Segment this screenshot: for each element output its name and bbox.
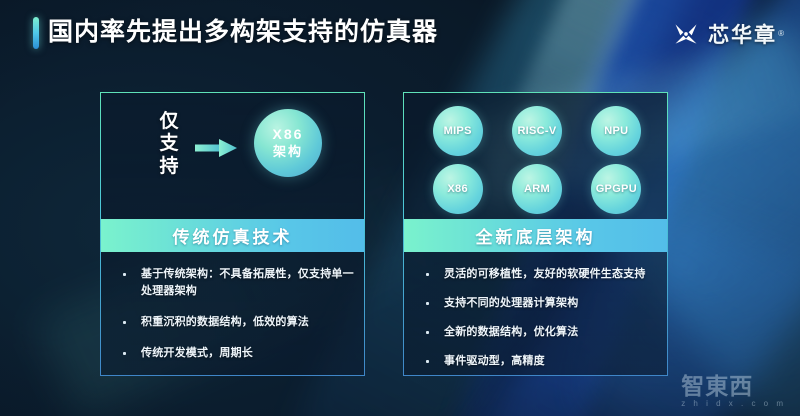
architecture-chip-label: X86: [447, 183, 467, 195]
legacy-simulation-panel: 仅支持 X86 架构 传统仿真技术 基于传统架构：不具备拓: [100, 92, 365, 376]
architecture-chip: MIPS: [433, 106, 483, 156]
brand-name: 芯华章: [708, 24, 777, 47]
list-item: 支持不同的处理器计算架构: [418, 295, 657, 312]
list-item: 事件驱动型，高精度: [418, 353, 657, 370]
legacy-bullet-list: 基于传统架构：不具备拓展性，仅支持单一处理器架构 积重沉积的数据结构，低效的算法…: [115, 266, 354, 362]
architecture-chip-grid: MIPS RISC-V NPU X86 ARM GPGPU: [418, 105, 656, 215]
watermark-url: z h i d x . c o m: [681, 399, 786, 408]
list-item: 积重沉积的数据结构，低效的算法: [115, 314, 354, 331]
architecture-chip-label: MIPS: [444, 125, 472, 137]
list-item: 灵活的可移植性，友好的软硬件生态支持: [418, 266, 657, 283]
architecture-chip: RISC-V: [512, 106, 562, 156]
new-architecture-bullet-list: 灵活的可移植性，友好的软硬件生态支持 支持不同的处理器计算架构 全新的数据结构，…: [418, 266, 657, 370]
x86-architecture-circle: X86 架构: [254, 109, 322, 177]
architecture-chip-label: GPGPU: [596, 183, 637, 195]
architecture-chip: X86: [433, 164, 483, 214]
architecture-chip-label: RISC-V: [517, 125, 556, 137]
x-mark-icon: [672, 20, 700, 48]
architecture-chip-label: ARM: [524, 183, 550, 195]
title-accent-bar: [33, 17, 39, 49]
new-architecture-panel-band-title: 全新底层架构: [476, 223, 596, 248]
new-architecture-panel-body: 灵活的可移植性，友好的软硬件生态支持 支持不同的处理器计算架构 全新的数据结构，…: [404, 252, 667, 370]
legacy-panel-body: 基于传统架构：不具备拓展性，仅支持单一处理器架构 积重沉积的数据结构，低效的算法…: [101, 252, 364, 362]
new-architecture-panel-band: 全新底层架构: [404, 219, 667, 252]
list-item: 全新的数据结构，优化算法: [418, 324, 657, 341]
list-item: 传统开发模式，周期长: [115, 345, 354, 362]
architecture-chip-label: NPU: [604, 125, 628, 137]
brand-registered-mark: ®: [778, 29, 784, 38]
arrow-right-icon: [195, 137, 239, 159]
only-support-label: 仅支持: [156, 111, 182, 178]
slide-root: 国内率先提出多构架支持的仿真器 芯华章® 仅支持: [0, 0, 800, 416]
watermark: 智東西 z h i d x . c o m: [681, 375, 786, 408]
page-title: 国内率先提出多构架支持的仿真器: [48, 12, 438, 48]
watermark-glyph: 智東西: [681, 375, 786, 398]
legacy-panel-visual: 仅支持 X86 架构: [101, 93, 364, 219]
new-architecture-panel: MIPS RISC-V NPU X86 ARM GPGPU 全新底层架构 灵活的…: [403, 92, 668, 376]
legacy-panel-band-title: 传统仿真技术: [173, 223, 293, 248]
architecture-chip: GPGPU: [591, 164, 641, 214]
architecture-chip: NPU: [591, 106, 641, 156]
legacy-panel-band: 传统仿真技术: [101, 219, 364, 252]
new-architecture-panel-visual: MIPS RISC-V NPU X86 ARM GPGPU: [404, 93, 667, 219]
x86-circle-line2: 架构: [273, 144, 303, 160]
x86-circle-line1: X86: [273, 126, 304, 144]
architecture-chip: ARM: [512, 164, 562, 214]
brand-logo: 芯华章®: [672, 17, 784, 51]
slide-header: 国内率先提出多构架支持的仿真器 芯华章®: [0, 0, 800, 70]
list-item: 基于传统架构：不具备拓展性，仅支持单一处理器架构: [115, 266, 354, 300]
